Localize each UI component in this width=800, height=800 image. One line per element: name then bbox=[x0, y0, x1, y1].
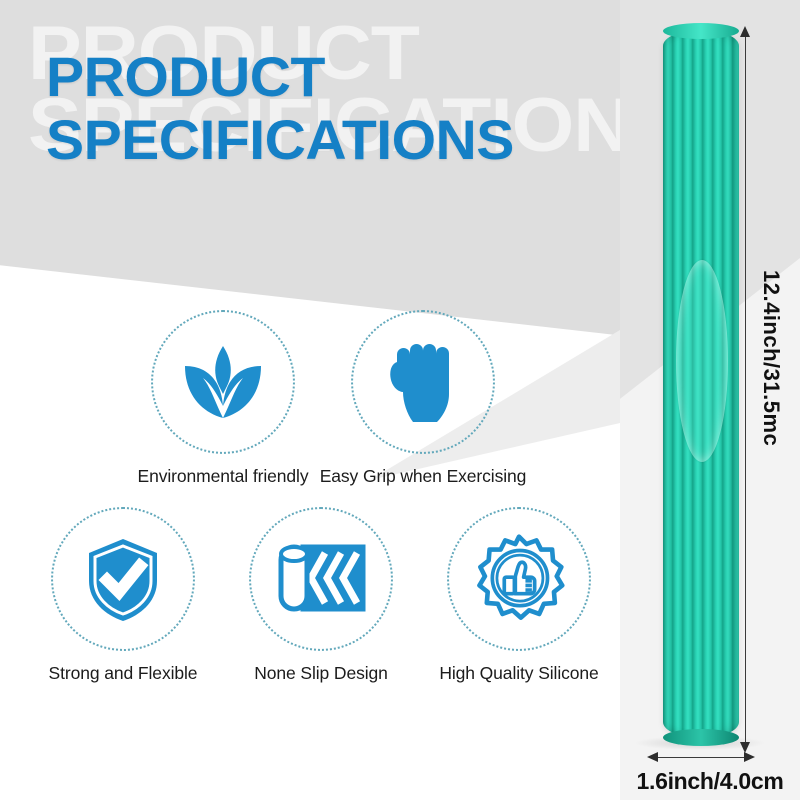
non-slip-mat-icon bbox=[275, 541, 367, 617]
feature-none-slip-design[interactable]: None Slip Design bbox=[222, 507, 420, 684]
feature-icon-circle bbox=[151, 310, 295, 454]
feature-label: Easy Grip when Exercising bbox=[320, 466, 527, 487]
feature-label: High Quality Silicone bbox=[439, 663, 598, 684]
feature-icon-circle bbox=[249, 507, 393, 651]
feature-environmental-friendly[interactable]: Environmental friendly bbox=[123, 310, 323, 487]
width-dimension-line bbox=[654, 757, 746, 758]
feature-row-1: Environmental friendly bbox=[0, 310, 640, 487]
shield-check-icon bbox=[81, 533, 165, 625]
feature-label: Strong and Flexible bbox=[49, 663, 198, 684]
feature-grid: Environmental friendly bbox=[0, 310, 640, 684]
page-title: PRODUCT SPECIFICATIONS bbox=[46, 46, 660, 171]
feature-label: None Slip Design bbox=[254, 663, 388, 684]
quality-badge-thumbs-up-icon bbox=[473, 533, 565, 625]
height-dimension-label: 12.4inch/31.5mc bbox=[758, 270, 784, 446]
roller-emblem bbox=[676, 260, 728, 462]
width-dimension-label: 1.6inch/4.0cm bbox=[620, 768, 800, 795]
width-arrow-right-icon bbox=[744, 752, 755, 762]
roller-top-cap bbox=[663, 23, 739, 39]
height-dimension-line bbox=[745, 33, 746, 748]
feature-row-2: Strong and Flexible bbox=[0, 507, 640, 684]
feature-icon-circle bbox=[351, 310, 495, 454]
product-specifications-poster: PRODUCT SPECIFICATIONS PRODUCT SPECIFICA… bbox=[0, 0, 800, 800]
feature-easy-grip[interactable]: Easy Grip when Exercising bbox=[323, 310, 523, 487]
width-arrow-left-icon bbox=[647, 752, 658, 762]
roller-bottom-cap bbox=[663, 729, 739, 746]
feature-label: Environmental friendly bbox=[138, 466, 309, 487]
header-band: PRODUCT SPECIFICATIONS PRODUCT SPECIFICA… bbox=[0, 0, 660, 340]
feature-icon-circle bbox=[447, 507, 591, 651]
feature-icon-circle bbox=[51, 507, 195, 651]
height-arrow-up-icon bbox=[740, 26, 750, 37]
product-roller bbox=[663, 30, 739, 738]
product-image-pane: 12.4inch/31.5mc 1.6inch/4.0cm bbox=[620, 0, 800, 800]
content-pane: PRODUCT SPECIFICATIONS PRODUCT SPECIFICA… bbox=[0, 0, 660, 800]
leaf-icon bbox=[177, 336, 269, 428]
feature-high-quality-silicone[interactable]: High Quality Silicone bbox=[420, 507, 618, 684]
feature-strong-and-flexible[interactable]: Strong and Flexible bbox=[24, 507, 222, 684]
fist-icon bbox=[381, 336, 465, 428]
